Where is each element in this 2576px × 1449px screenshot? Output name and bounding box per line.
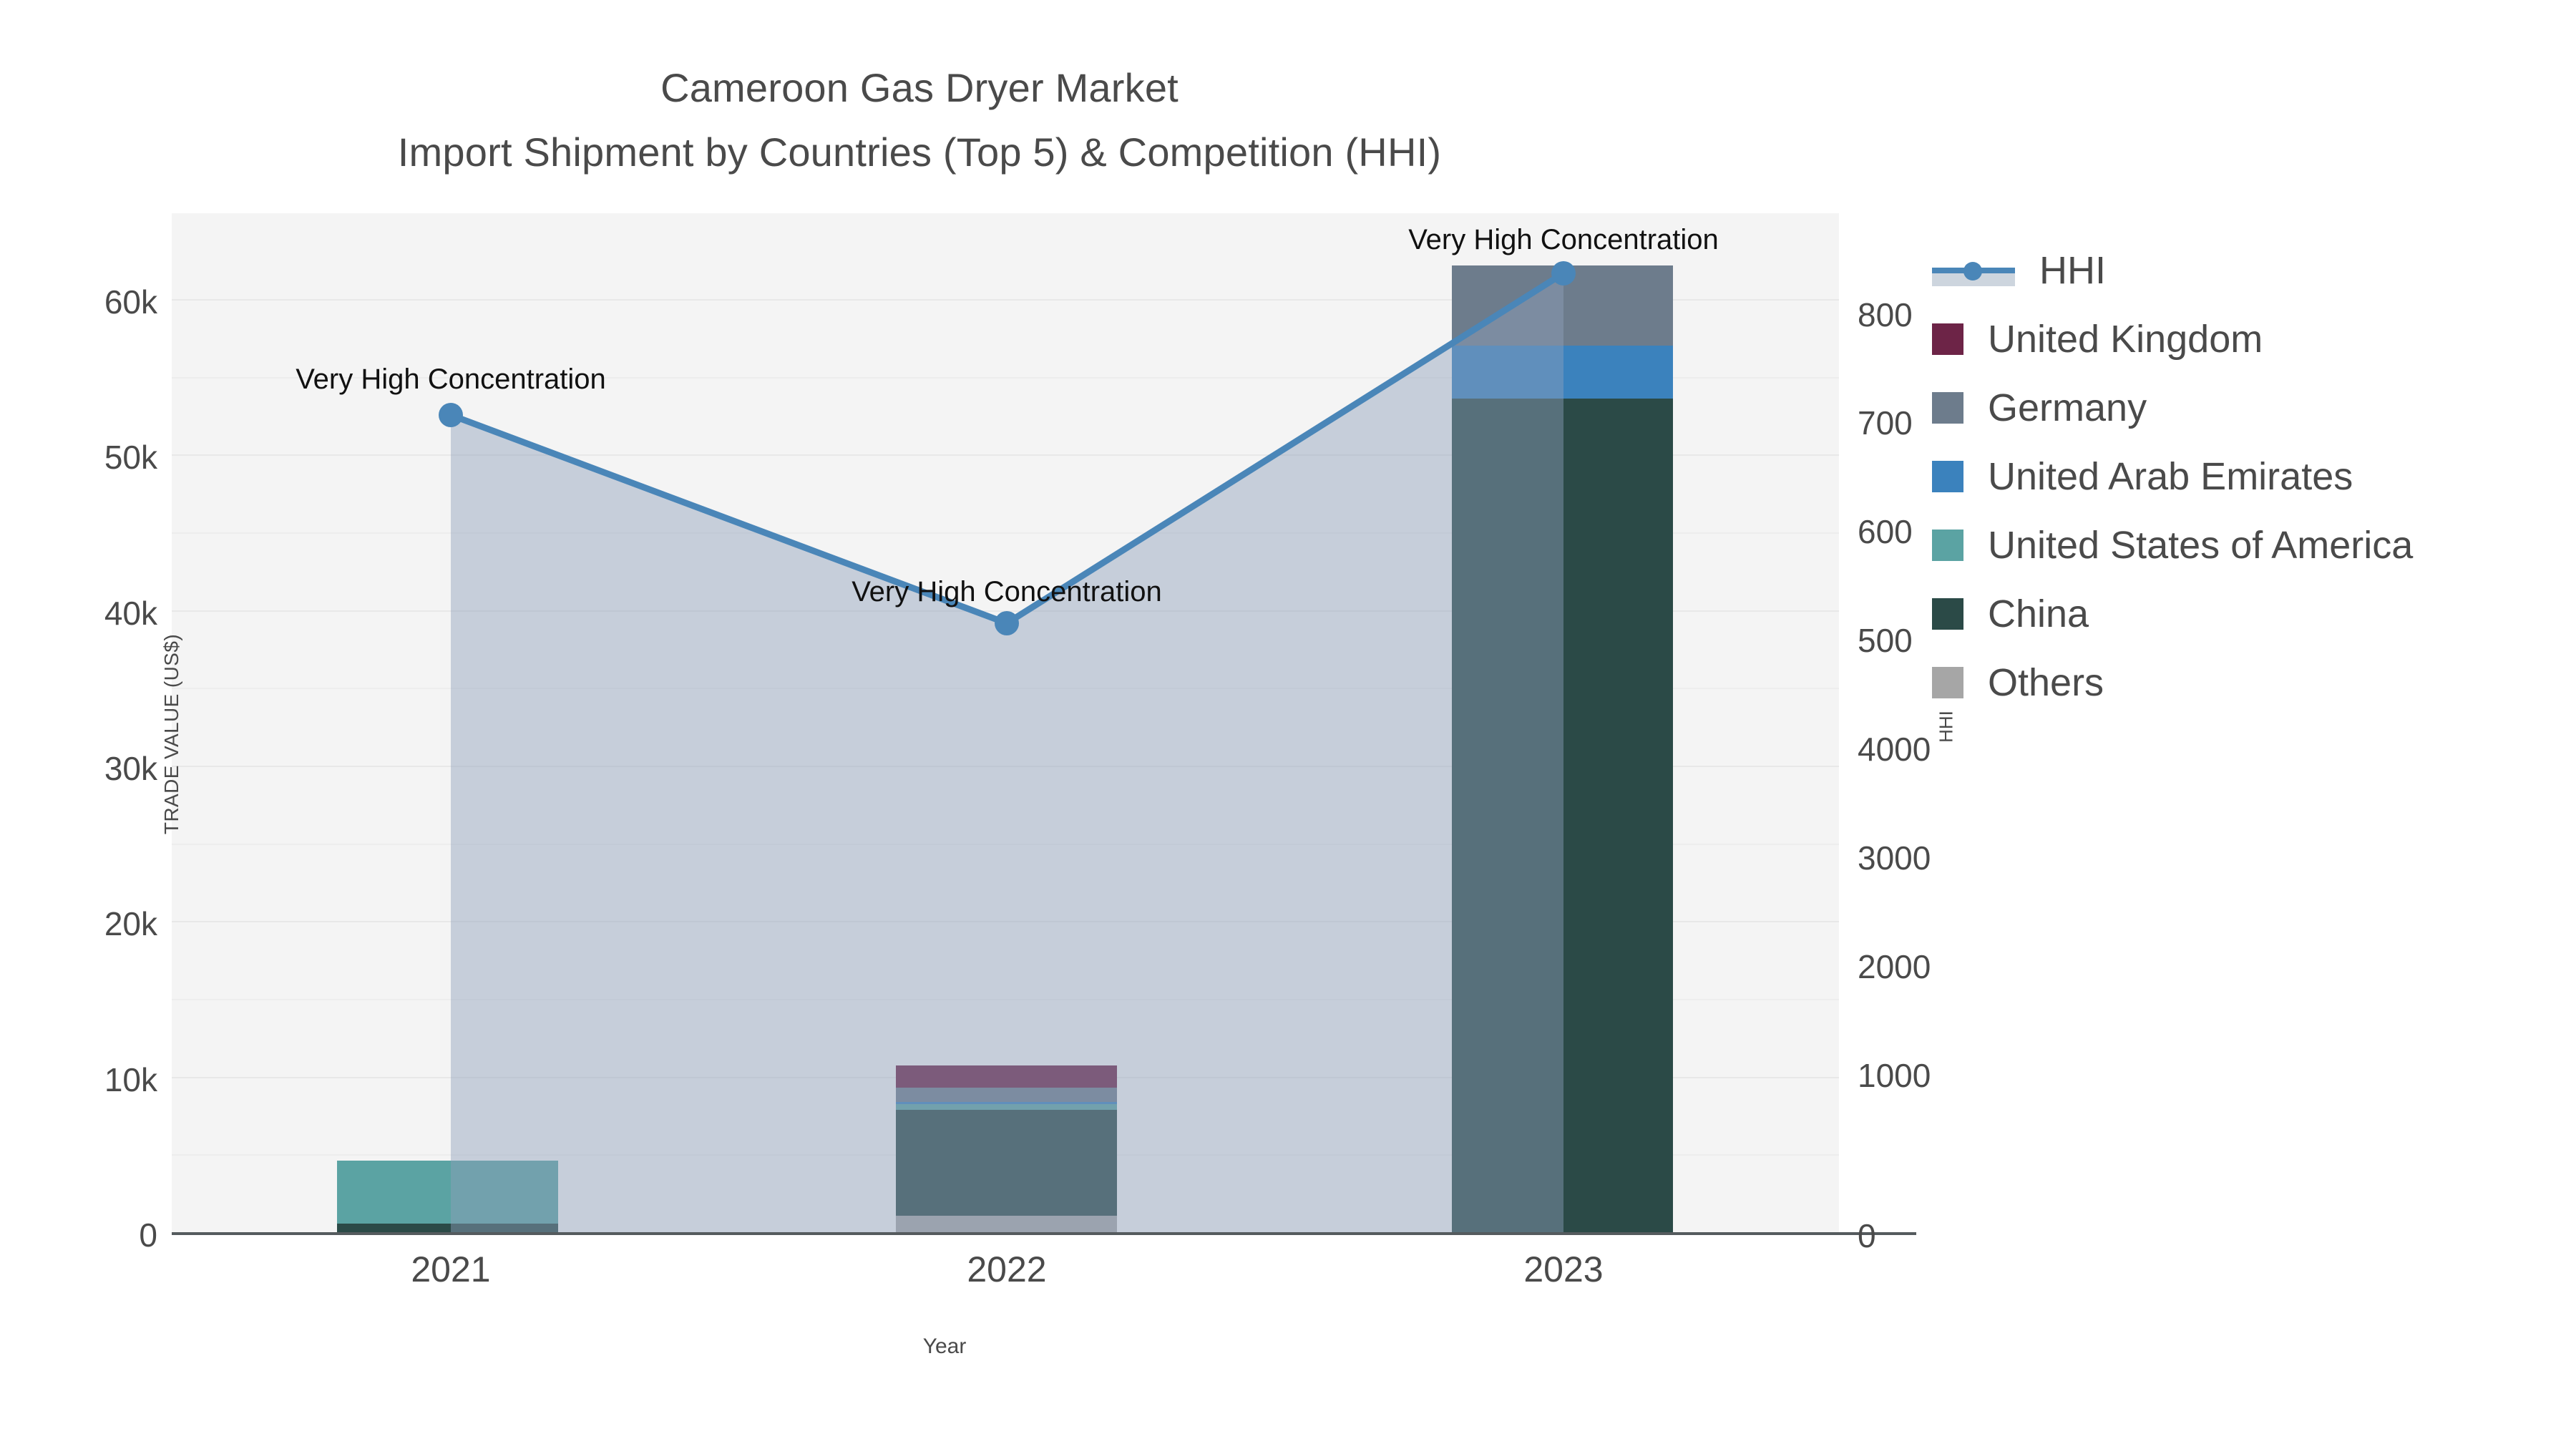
legend-item-hhi[interactable]: HHI xyxy=(1932,236,2562,305)
x-axis-line xyxy=(172,1232,1916,1235)
y-tick-right-0: 0 xyxy=(1858,1216,1876,1255)
x-tick-2023: 2023 xyxy=(1420,1249,1707,1290)
x-tick-2022: 2022 xyxy=(864,1249,1150,1290)
chart-root: Cameroon Gas Dryer Market Import Shipmen… xyxy=(0,0,2576,1449)
hhi-line-icon xyxy=(1932,255,2015,286)
y-tick-left-30k: 30k xyxy=(14,749,157,788)
y-tick-right-700: 700 xyxy=(1858,404,1913,442)
x-tick-2021: 2021 xyxy=(308,1249,594,1290)
legend-item-united-arab-emirates[interactable]: United Arab Emirates xyxy=(1932,442,2562,511)
legend-item-germany[interactable]: Germany xyxy=(1932,374,2562,442)
y-tick-right-4000: 4000 xyxy=(1858,730,1931,769)
y-tick-right-3000: 3000 xyxy=(1858,839,1931,877)
hhi-point-2021[interactable] xyxy=(439,403,463,427)
chart-title-block: Cameroon Gas Dryer Market Import Shipmen… xyxy=(0,56,1839,185)
legend-item-united-states-of-america[interactable]: United States of America xyxy=(1932,511,2562,580)
y-tick-left-60k: 60k xyxy=(14,283,157,321)
y-tick-left-40k: 40k xyxy=(14,594,157,633)
legend-label-united-states-of-america: United States of America xyxy=(1988,526,2413,565)
annotation-2023: Very High Concentration xyxy=(1134,224,1993,256)
legend-label-germany: Germany xyxy=(1988,389,2147,427)
annotation-2021: Very High Concentration xyxy=(165,364,737,396)
swatch-icon-united-states-of-america xyxy=(1932,530,1963,561)
swatch-icon-china xyxy=(1932,598,1963,630)
y-tick-right-800: 800 xyxy=(1858,296,1913,334)
swatch-icon-others xyxy=(1932,667,1963,698)
y-tick-left-10k: 10k xyxy=(14,1060,157,1099)
legend-label-others: Others xyxy=(1988,663,2104,702)
legend-label-hhi: HHI xyxy=(2039,251,2106,290)
hhi-point-2022[interactable] xyxy=(995,611,1019,635)
hhi-point-2023[interactable] xyxy=(1551,261,1576,286)
legend-label-united-arab-emirates: United Arab Emirates xyxy=(1988,457,2353,496)
hhi-area xyxy=(451,273,1563,1233)
chart-title: Cameroon Gas Dryer Market xyxy=(0,56,1839,120)
legend: HHI United Kingdom Germany United Arab E… xyxy=(1932,236,2562,717)
y-tick-right-500: 500 xyxy=(1858,621,1913,660)
swatch-icon-united-arab-emirates xyxy=(1932,461,1963,492)
y-tick-right-1000: 1000 xyxy=(1858,1056,1931,1095)
legend-label-united-kingdom: United Kingdom xyxy=(1988,320,2263,358)
y-tick-left-0: 0 xyxy=(14,1216,157,1254)
y-tick-right-2000: 2000 xyxy=(1858,947,1931,986)
swatch-icon-united-kingdom xyxy=(1932,323,1963,355)
legend-label-china: China xyxy=(1988,595,2089,633)
y-tick-left-20k: 20k xyxy=(14,904,157,943)
y-tick-right-600: 600 xyxy=(1858,512,1913,551)
swatch-icon-germany xyxy=(1932,392,1963,424)
annotation-2022: Very High Concentration xyxy=(721,576,1293,608)
chart-subtitle: Import Shipment by Countries (Top 5) & C… xyxy=(0,120,1839,185)
legend-item-china[interactable]: China xyxy=(1932,580,2562,648)
legend-item-united-kingdom[interactable]: United Kingdom xyxy=(1932,305,2562,374)
y-axis-left-label: TRADE VALUE (US$) xyxy=(160,548,183,920)
y-tick-left-50k: 50k xyxy=(14,438,157,477)
x-axis-label: Year xyxy=(830,1335,1059,1359)
legend-item-others[interactable]: Others xyxy=(1932,648,2562,717)
